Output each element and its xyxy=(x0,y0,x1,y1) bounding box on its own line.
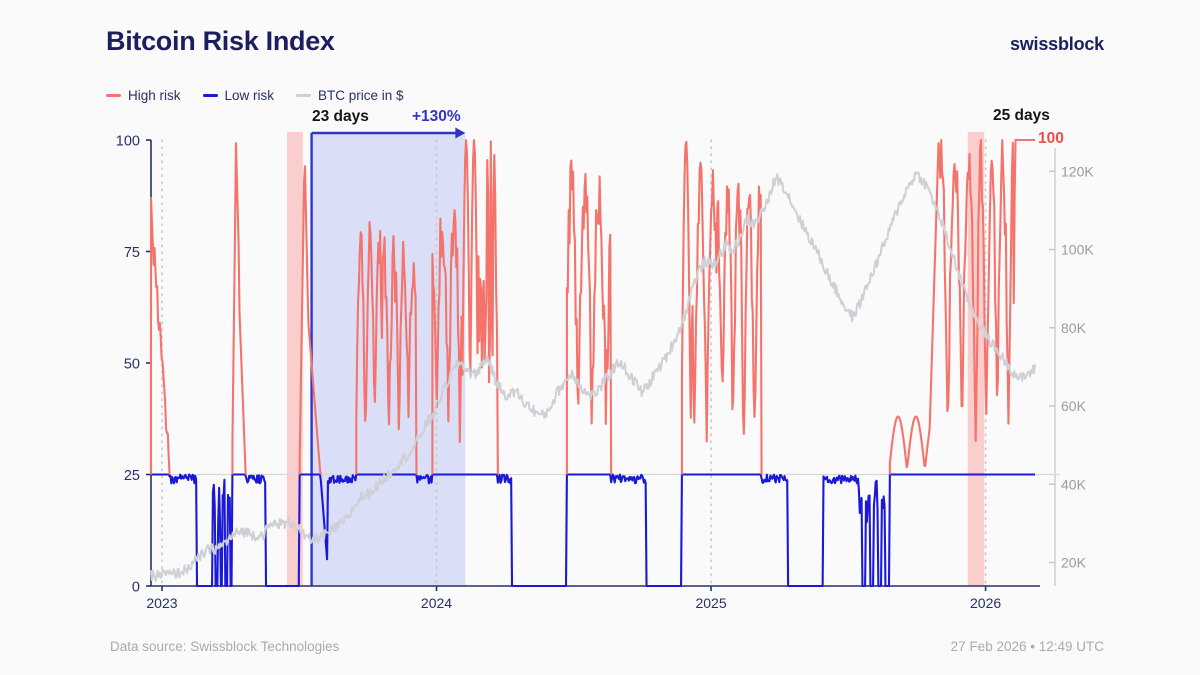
x-tick-label: 2026 xyxy=(970,595,1001,611)
series-low-risk xyxy=(151,475,1035,587)
data-source-label: Data source: Swissblock Technologies xyxy=(110,639,339,654)
y-tick-label-right: 20K xyxy=(1061,555,1087,571)
x-tick-label: 2024 xyxy=(421,595,452,611)
y-tick-label-left: 25 xyxy=(124,468,140,484)
x-tick-label: 2025 xyxy=(695,595,726,611)
y-tick-label-right: 60K xyxy=(1061,398,1087,414)
y-tick-label-left: 0 xyxy=(132,580,140,596)
series-high-risk xyxy=(151,140,1035,475)
chart-page: Bitcoin Risk Index swissblock High risk … xyxy=(0,0,1200,675)
y-tick-label-right: 120K xyxy=(1061,163,1094,179)
y-tick-label-right: 40K xyxy=(1061,476,1087,492)
timestamp-label: 27 Feb 2026 • 12:49 UTC xyxy=(951,639,1104,654)
risk-index-chart: 025507510020K40K60K80K100K120K2023202420… xyxy=(0,0,1200,675)
y-tick-label-left: 50 xyxy=(124,357,140,373)
footer: Data source: Swissblock Technologies 27 … xyxy=(0,627,1200,675)
chart-area: 025507510020K40K60K80K100K120K2023202420… xyxy=(0,0,1200,675)
y-tick-label-left: 100 xyxy=(116,134,140,150)
y-tick-label-right: 100K xyxy=(1061,242,1094,258)
y-tick-label-left: 75 xyxy=(124,245,140,261)
y-tick-label-right: 80K xyxy=(1061,320,1087,336)
x-tick-label: 2023 xyxy=(146,595,177,611)
